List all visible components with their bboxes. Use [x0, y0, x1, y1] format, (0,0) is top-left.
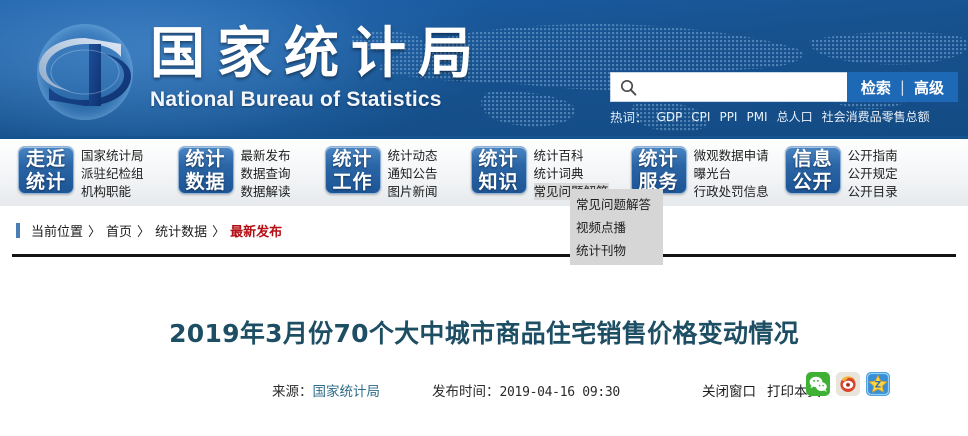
search-separator: | — [900, 78, 905, 96]
nav-link-announcements[interactable]: 通知公告 — [388, 165, 438, 182]
nav-link-functions[interactable]: 机构职能 — [81, 183, 144, 200]
nav-badge-line1: 统计 — [326, 148, 380, 171]
nav-group-statistical-data: 统计 数据 最新发布 数据查询 数据解读 — [178, 139, 291, 200]
nav-link-statistical-encyclopedia[interactable]: 统计百科 — [534, 147, 609, 164]
hotword-gdp[interactable]: GDP — [657, 110, 683, 124]
nav-link-disclosure-catalog[interactable]: 公开目录 — [848, 183, 898, 200]
nav-badge-line1: 走近 — [19, 148, 73, 171]
breadcrumb-marker — [16, 223, 20, 238]
nav-link-discipline-group[interactable]: 派驻纪检组 — [81, 165, 144, 182]
search-box[interactable]: 检索 | 高级 — [610, 72, 958, 102]
nav-links-statistical-service: 微观数据申请 曝光台 行政处罚信息 — [694, 146, 769, 200]
nav-group-information-disclosure: 信息 公开 公开指南 公开规定 公开目录 — [785, 139, 898, 200]
nav-link-latest-release[interactable]: 最新发布 — [241, 147, 291, 164]
nav-badge-line1: 信息 — [786, 148, 840, 171]
search-input[interactable] — [645, 74, 847, 100]
article-area: 2019年3月份70个大中城市商品住宅销售价格变动情况 来源：国家统计局 发布时… — [0, 258, 968, 436]
nav-link-microdata-application[interactable]: 微观数据申请 — [694, 147, 769, 164]
search-actions: 检索 | 高级 — [847, 72, 958, 102]
breadcrumb-item-home[interactable]: 首页 — [106, 221, 132, 240]
nav-link-data-interpretation[interactable]: 数据解读 — [241, 183, 291, 200]
nav-badge-statistical-work[interactable]: 统计 工作 — [325, 146, 381, 194]
nav-badge-statistical-knowledge[interactable]: 统计 知识 — [471, 146, 527, 194]
nav-badge-line1: 统计 — [472, 148, 526, 171]
site-title-en: National Bureau of Statistics — [150, 88, 485, 112]
svg-text:Z: Z — [875, 381, 881, 391]
breadcrumb-item-statistical-data[interactable]: 统计数据 — [155, 221, 207, 240]
site-header-banner: 国家统计局 National Bureau of Statistics 检索 |… — [0, 0, 968, 136]
weibo-icon[interactable] — [836, 372, 860, 396]
nav-link-administrative-penalty[interactable]: 行政处罚信息 — [694, 183, 769, 200]
hotword-total-population[interactable]: 总人口 — [777, 108, 813, 125]
advanced-search-button[interactable]: 高级 — [914, 77, 944, 98]
breadcrumb-separator: 〉 — [212, 221, 225, 240]
page-title: 2019年3月份70个大中城市商品住宅销售价格变动情况 — [0, 314, 968, 350]
nav-link-photo-news[interactable]: 图片新闻 — [388, 183, 438, 200]
nav-link-disclosure-guide[interactable]: 公开指南 — [848, 147, 898, 164]
breadcrumb-bar: 当前位置 〉 首页 〉 统计数据 〉 最新发布 — [0, 206, 968, 255]
article-source: 来源：国家统计局 — [272, 380, 380, 400]
close-window-button[interactable]: 关闭窗口 — [702, 380, 756, 400]
site-title-block: 国家统计局 National Bureau of Statistics — [150, 22, 485, 112]
nav-badge-statistical-service[interactable]: 统计 服务 — [631, 146, 687, 194]
wechat-icon[interactable] — [806, 372, 830, 396]
dropdown-item-statistical-publications[interactable]: 统计刊物 — [576, 239, 663, 262]
search-icon — [611, 79, 645, 96]
hotword-cpi[interactable]: CPI — [691, 110, 710, 124]
nav-link-data-query[interactable]: 数据查询 — [241, 165, 291, 182]
breadcrumb: 当前位置 〉 首页 〉 统计数据 〉 最新发布 — [16, 221, 282, 240]
nav-badge-line2: 统计 — [19, 171, 73, 194]
nav-link-nbs[interactable]: 国家统计局 — [81, 147, 144, 164]
hotword-retail-sales[interactable]: 社会消费品零售总额 — [822, 108, 930, 125]
nav-link-statistical-news[interactable]: 统计动态 — [388, 147, 438, 164]
article-actions: 关闭窗口 打印本页 — [702, 380, 821, 400]
nav-group-approach-statistics: 走近 统计 国家统计局 派驻纪检组 机构职能 — [18, 139, 144, 200]
article-time-value: 2019-04-16 09:30 — [500, 385, 620, 400]
hotword-ppi[interactable]: PPI — [719, 110, 737, 124]
nav-badge-approach-statistics[interactable]: 走近 统计 — [18, 146, 74, 194]
nav-links-information-disclosure: 公开指南 公开规定 公开目录 — [848, 146, 898, 200]
main-navigation: 走近 统计 国家统计局 派驻纪检组 机构职能 统计 数据 最新发布 数据查询 数… — [0, 136, 968, 206]
dropdown-item-faq[interactable]: 常见问题解答 — [576, 193, 663, 216]
nav-badge-line1: 统计 — [632, 148, 686, 171]
breadcrumb-current: 最新发布 — [230, 221, 282, 240]
nav-link-disclosure-rules[interactable]: 公开规定 — [848, 165, 898, 182]
nav-links-approach-statistics: 国家统计局 派驻纪检组 机构职能 — [81, 146, 144, 200]
nav-group-statistical-work: 统计 工作 统计动态 通知公告 图片新闻 — [325, 139, 438, 200]
nav-badge-line2: 数据 — [179, 171, 233, 194]
share-icons: Z — [806, 372, 890, 396]
dropdown-item-video-on-demand[interactable]: 视频点播 — [576, 216, 663, 239]
nav-links-statistical-data: 最新发布 数据查询 数据解读 — [241, 146, 291, 200]
hotwords-bar: 热词： GDP CPI PPI PMI 总人口 社会消费品零售总额 — [610, 107, 960, 126]
hotwords-label: 热词： — [610, 107, 648, 126]
site-title-cn: 国家统计局 — [150, 22, 485, 84]
hotword-pmi[interactable]: PMI — [746, 110, 767, 124]
nav-badge-line1: 统计 — [179, 148, 233, 171]
nav-badge-statistical-data[interactable]: 统计 数据 — [178, 146, 234, 194]
nav-dropdown-statistical-knowledge: 常见问题解答 视频点播 统计刊物 — [570, 189, 663, 265]
nav-badge-line2: 公开 — [786, 171, 840, 194]
nav-link-statistical-dictionary[interactable]: 统计词典 — [534, 165, 609, 182]
page-root: 国家统计局 National Bureau of Statistics 检索 |… — [0, 0, 968, 436]
nav-badge-information-disclosure[interactable]: 信息 公开 — [785, 146, 841, 194]
nav-links-statistical-work: 统计动态 通知公告 图片新闻 — [388, 146, 438, 200]
search-submit-button[interactable]: 检索 — [861, 77, 891, 98]
nav-badge-line2: 工作 — [326, 171, 380, 194]
nbs-emblem-icon — [33, 22, 137, 122]
qzone-star-icon[interactable]: Z — [866, 372, 890, 396]
breadcrumb-divider — [12, 254, 956, 257]
nav-badge-line2: 知识 — [472, 171, 526, 194]
breadcrumb-separator: 〉 — [88, 221, 101, 240]
breadcrumb-separator: 〉 — [137, 221, 150, 240]
breadcrumb-label: 当前位置 — [31, 221, 83, 240]
article-time-label: 发布时间： — [432, 384, 500, 400]
article-source-value: 国家统计局 — [313, 384, 381, 400]
article-publish-time: 发布时间：2019-04-16 09:30 — [432, 380, 620, 400]
article-source-label: 来源： — [272, 384, 313, 400]
nav-link-exposure-platform[interactable]: 曝光台 — [694, 165, 769, 182]
